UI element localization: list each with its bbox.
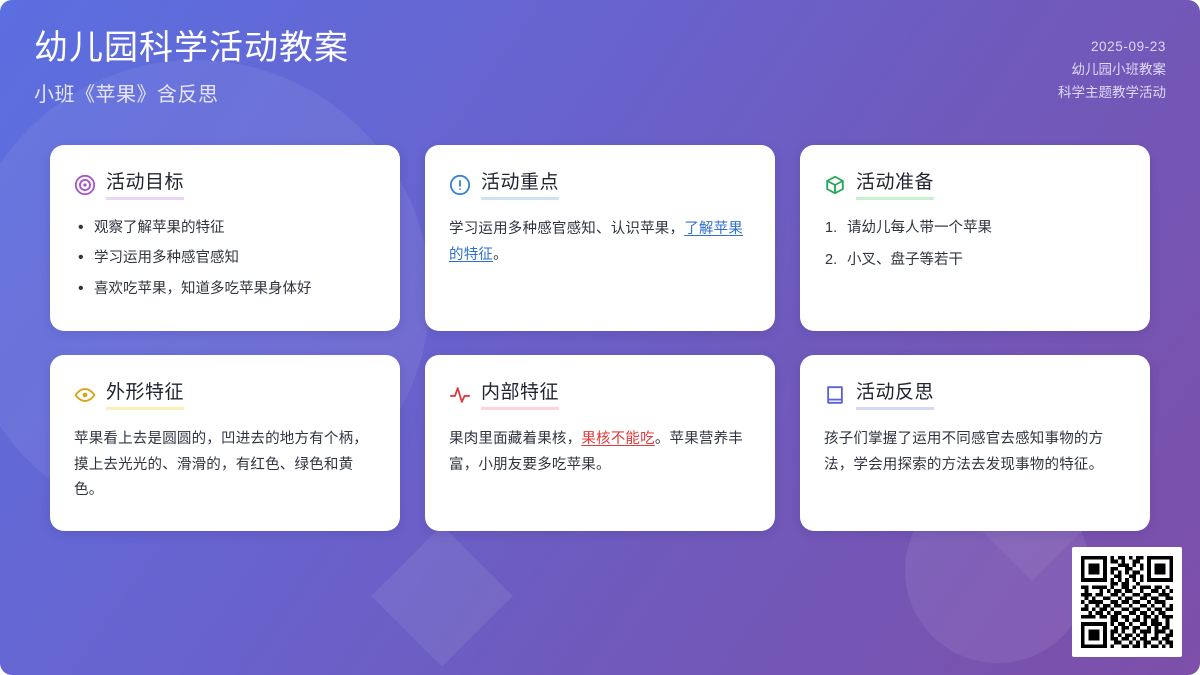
header-left: 幼儿园科学活动教案 小班《苹果》含反思 bbox=[34, 26, 349, 107]
slide-header: 幼儿园科学活动教案 小班《苹果》含反思 2025-09-23 幼儿园小班教案 科… bbox=[0, 0, 1200, 132]
card-header: 内部特征 bbox=[449, 381, 751, 410]
box-icon bbox=[824, 174, 846, 196]
paragraph-text-post: 。 bbox=[493, 247, 508, 263]
card-activity-preparation[interactable]: 活动准备 请幼儿每人带一个苹果 小叉、盘子等若干 bbox=[800, 145, 1150, 331]
preparation-list: 请幼儿每人带一个苹果 小叉、盘子等若干 bbox=[824, 217, 1126, 272]
meta-date: 2025-09-23 bbox=[1058, 35, 1166, 58]
target-icon bbox=[74, 174, 96, 196]
card-header: 活动准备 bbox=[824, 171, 1126, 200]
card-title: 活动重点 bbox=[481, 171, 559, 200]
card-title: 外形特征 bbox=[106, 381, 184, 410]
warning-link[interactable]: 果核不能吃 bbox=[581, 431, 655, 447]
card-external-features[interactable]: 外形特征 苹果看上去是圆圆的，凹进去的地方有个柄，摸上去光光的、滑滑的，有红色、… bbox=[50, 355, 400, 531]
slide-root: 幼儿园科学活动教案 小班《苹果》含反思 2025-09-23 幼儿园小班教案 科… bbox=[0, 0, 1200, 675]
external-features-paragraph: 苹果看上去是圆圆的，凹进去的地方有个柄，摸上去光光的、滑滑的，有红色、绿色和黄色… bbox=[74, 427, 376, 504]
card-title: 活动准备 bbox=[856, 171, 934, 200]
card-header: 活动目标 bbox=[74, 171, 376, 200]
card-title: 活动目标 bbox=[106, 171, 184, 200]
card-header: 活动重点 bbox=[449, 171, 751, 200]
goals-list: 观察了解苹果的特征 学习运用多种感官感知 喜欢吃苹果，知道多吃苹果身体好 bbox=[74, 217, 376, 300]
meta-category: 幼儿园小班教案 bbox=[1058, 58, 1166, 81]
card-activity-reflection[interactable]: 活动反思 孩子们掌握了运用不同感官去感知事物的方法，学会用探索的方法去发现事物的… bbox=[800, 355, 1150, 531]
card-title: 活动反思 bbox=[856, 381, 934, 410]
eye-icon bbox=[74, 384, 96, 406]
page-subtitle: 小班《苹果》含反思 bbox=[34, 78, 349, 107]
page-title: 幼儿园科学活动教案 bbox=[34, 26, 349, 70]
list-item: 喜欢吃苹果，知道多吃苹果身体好 bbox=[74, 278, 376, 300]
card-header: 活动反思 bbox=[824, 381, 1126, 410]
card-header: 外形特征 bbox=[74, 381, 376, 410]
card-activity-goals[interactable]: 活动目标 观察了解苹果的特征 学习运用多种感官感知 喜欢吃苹果，知道多吃苹果身体… bbox=[50, 145, 400, 331]
list-item: 请幼儿每人带一个苹果 bbox=[824, 217, 1126, 239]
qr-code[interactable] bbox=[1072, 547, 1182, 657]
list-item: 小叉、盘子等若干 bbox=[824, 249, 1126, 271]
reflection-paragraph: 孩子们掌握了运用不同感官去感知事物的方法，学会用探索的方法去发现事物的特征。 bbox=[824, 427, 1126, 479]
activity-pulse-icon bbox=[449, 384, 471, 406]
book-icon bbox=[824, 384, 846, 406]
qr-code-image bbox=[1081, 556, 1173, 648]
header-meta: 2025-09-23 幼儿园小班教案 科学主题教学活动 bbox=[1058, 26, 1166, 105]
focus-paragraph: 学习运用多种感官感知、认识苹果，了解苹果的特征。 bbox=[449, 217, 751, 269]
background-diamond-left bbox=[371, 525, 512, 666]
internal-features-paragraph: 果肉里面藏着果核，果核不能吃。苹果营养丰富，小朋友要多吃苹果。 bbox=[449, 427, 751, 479]
card-internal-features[interactable]: 内部特征 果肉里面藏着果核，果核不能吃。苹果营养丰富，小朋友要多吃苹果。 bbox=[425, 355, 775, 531]
paragraph-text-pre: 学习运用多种感官感知、认识苹果， bbox=[449, 221, 684, 237]
list-item: 学习运用多种感官感知 bbox=[74, 247, 376, 269]
alert-circle-icon bbox=[449, 174, 471, 196]
list-item: 观察了解苹果的特征 bbox=[74, 217, 376, 239]
card-grid: 活动目标 观察了解苹果的特征 学习运用多种感官感知 喜欢吃苹果，知道多吃苹果身体… bbox=[50, 145, 1150, 531]
card-title: 内部特征 bbox=[481, 381, 559, 410]
paragraph-text-pre: 果肉里面藏着果核， bbox=[449, 431, 581, 447]
card-activity-focus[interactable]: 活动重点 学习运用多种感官感知、认识苹果，了解苹果的特征。 bbox=[425, 145, 775, 331]
meta-subject: 科学主题教学活动 bbox=[1058, 81, 1166, 104]
